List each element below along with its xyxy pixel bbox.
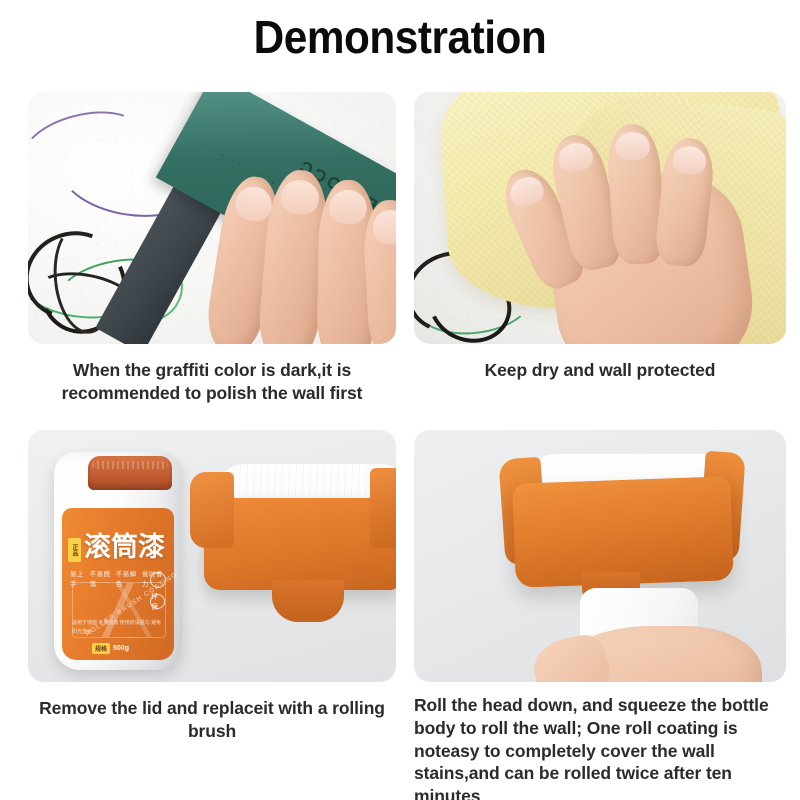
step-card-wipe: Keep dry and wall protected bbox=[414, 92, 786, 382]
step-card-roll-wall: Roll the head down, and squeeze the bott… bbox=[414, 430, 786, 800]
label-weight-value: 500g bbox=[113, 645, 129, 652]
hand bbox=[510, 116, 760, 344]
demonstration-page: Demonstration QETAOCC bbox=[0, 0, 800, 800]
paint-bottle: 正品 滚筒漆 易上手 不易脱落 不易掉色 省时省力 ROLLER BRUSH C… bbox=[54, 452, 182, 670]
step-card-replace-lid: 正品 滚筒漆 易上手 不易脱落 不易掉色 省时省力 ROLLER BRUSH C… bbox=[28, 430, 396, 744]
photo-bottle-and-roller: 正品 滚筒漆 易上手 不易脱落 不易掉色 省时省力 ROLLER BRUSH C… bbox=[28, 430, 396, 682]
label-weight-tag: 规格 bbox=[92, 643, 110, 654]
step-caption-replace-lid: Remove the lid and replaceit with a roll… bbox=[28, 682, 396, 744]
fingernail bbox=[506, 172, 548, 211]
bottle-label: 正品 滚筒漆 易上手 不易脱落 不易掉色 省时省力 ROLLER BRUSH C… bbox=[62, 508, 174, 660]
step-caption-roll-wall: Roll the head down, and squeeze the bott… bbox=[414, 682, 786, 800]
roller-stem bbox=[272, 580, 344, 622]
roller-brush-head bbox=[204, 498, 396, 590]
step-caption-wipe: Keep dry and wall protected bbox=[414, 344, 786, 382]
hand bbox=[214, 170, 396, 344]
photo-hand-wiping-wall bbox=[414, 92, 786, 344]
page-title: Demonstration bbox=[32, 10, 768, 64]
photo-rolling-on-wall bbox=[414, 430, 786, 682]
fingernail bbox=[672, 145, 708, 176]
label-fine-print: 适用于墙面 不易脱落 使用前请摇匀 避免阳光直射 bbox=[72, 619, 164, 636]
fingernail bbox=[372, 209, 396, 245]
fingernail bbox=[615, 131, 651, 161]
step-card-polish: QETAOCC · · · · · When the graffiti colo… bbox=[28, 92, 396, 406]
fingernail bbox=[556, 140, 596, 175]
hand bbox=[534, 612, 764, 682]
fingernail bbox=[279, 179, 320, 216]
step-caption-polish: When the graffiti color is dark,it is re… bbox=[28, 344, 396, 406]
fingernail bbox=[329, 190, 367, 225]
label-title: 滚筒漆 bbox=[84, 534, 165, 561]
label-eco-badge: 环保 bbox=[150, 594, 165, 609]
photo-hand-sanding-graffiti-wall: QETAOCC · · · · · bbox=[28, 92, 396, 344]
label-badge: 正品 bbox=[68, 538, 81, 562]
label-icon-circle bbox=[150, 572, 166, 588]
bottle-cap bbox=[88, 456, 172, 490]
label-weight: 规格 500g bbox=[92, 643, 129, 654]
